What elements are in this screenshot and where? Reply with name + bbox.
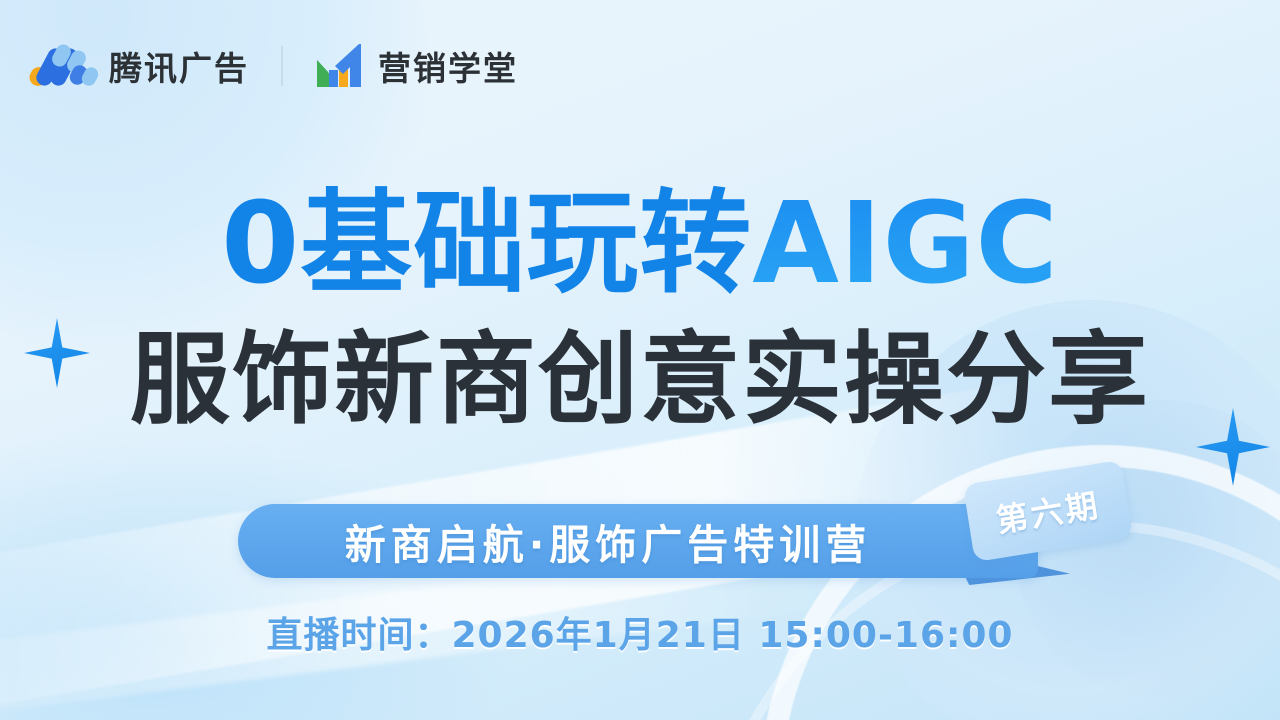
live-time-text: 直播时间：2026年1月21日 15:00-16:00	[0, 606, 1280, 658]
subtitle-ribbon: 新商启航·服饰广告特训营	[238, 504, 1038, 578]
promo-banner: 腾讯广告 营销学堂 0基础玩转AIGC 服饰新商创意实操分享 新商启航·服饰广告	[0, 0, 1280, 720]
header-logos: 腾讯广告 营销学堂	[30, 36, 518, 96]
marketing-school-logo-text: 营销学堂	[378, 42, 518, 90]
logo-divider	[281, 46, 283, 86]
hero-title-line1-highlight: AIGC	[752, 179, 1058, 309]
tencent-ads-logo-icon	[30, 45, 92, 87]
tencent-ads-logo-text: 腾讯广告	[109, 42, 249, 90]
marketing-school-logo-icon	[315, 44, 363, 88]
episode-tag-text: 第六期	[993, 480, 1104, 542]
hero-title-line1-prefix: 0基础玩转	[221, 179, 752, 309]
marketing-school-logo[interactable]: 营销学堂	[315, 42, 518, 90]
hero-title-line2: 服饰新商创意实操分享	[0, 330, 1280, 430]
hero-title-line1: 0基础玩转AIGC	[0, 188, 1280, 300]
subtitle-ribbon-text: 新商启航·服饰广告特训营	[345, 511, 932, 571]
episode-tag: 第六期	[963, 460, 1133, 562]
tencent-ads-logo[interactable]: 腾讯广告	[30, 42, 249, 90]
